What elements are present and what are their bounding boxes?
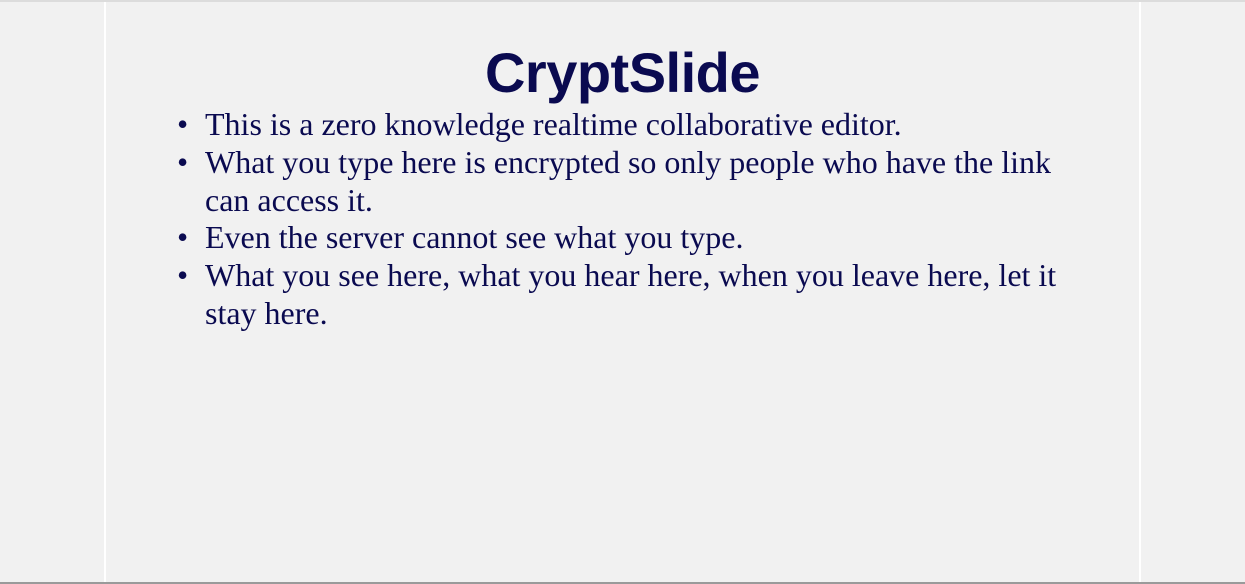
bullet-point-icon: • <box>177 106 205 144</box>
slide-right-edge-rule <box>1139 2 1141 582</box>
list-item[interactable]: • What you type here is encrypted so onl… <box>177 144 1063 220</box>
left-gutter <box>0 2 104 582</box>
bullet-point-icon: • <box>177 257 205 295</box>
slide-bullet-list[interactable]: • This is a zero knowledge realtime coll… <box>106 106 1139 333</box>
bullet-point-icon: • <box>177 144 205 182</box>
slide-title[interactable]: CryptSlide <box>106 2 1139 106</box>
bullet-text[interactable]: What you see here, what you hear here, w… <box>205 257 1063 333</box>
bullet-point-icon: • <box>177 219 205 257</box>
list-item[interactable]: • Even the server cannot see what you ty… <box>177 219 1063 257</box>
list-item[interactable]: • What you see here, what you hear here,… <box>177 257 1063 333</box>
slide-canvas[interactable]: CryptSlide • This is a zero knowledge re… <box>106 2 1139 582</box>
bullet-text[interactable]: What you type here is encrypted so only … <box>205 144 1063 220</box>
bullet-text[interactable]: This is a zero knowledge realtime collab… <box>205 106 1063 144</box>
list-item[interactable]: • This is a zero knowledge realtime coll… <box>177 106 1063 144</box>
slide-viewer: CryptSlide • This is a zero knowledge re… <box>0 0 1245 584</box>
bullet-text[interactable]: Even the server cannot see what you type… <box>205 219 1063 257</box>
right-gutter <box>1141 2 1245 582</box>
